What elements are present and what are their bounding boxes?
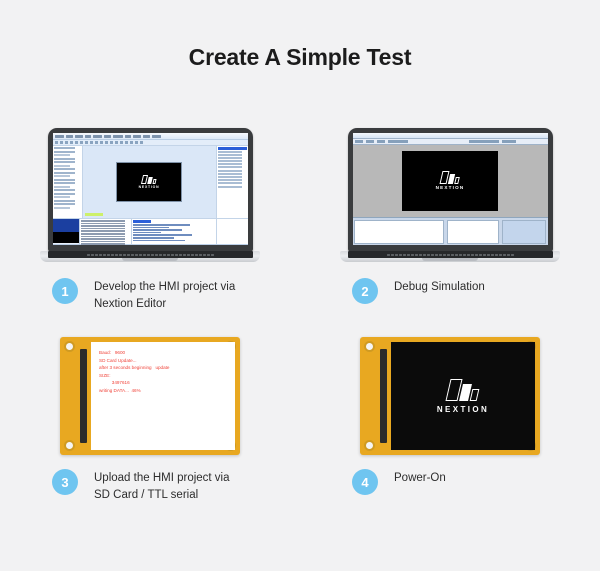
logo-bar-small xyxy=(470,389,480,401)
mounting-hole xyxy=(364,440,375,451)
ribbon-connector xyxy=(80,349,87,443)
step-text-1-line1: Develop the HMI project via xyxy=(94,279,235,296)
canvas-preview: NEXTION xyxy=(116,162,182,202)
step-text-4-line1: Power-On xyxy=(394,470,446,487)
step-text-4: Power-On xyxy=(394,470,446,487)
step-caption-2: 2 Debug Simulation xyxy=(300,262,600,304)
logo-bar-small xyxy=(152,179,156,184)
simulator-user-mcu-panel[interactable] xyxy=(502,220,546,244)
logo-bar-small xyxy=(454,177,460,184)
boot-log-line: after 3 seconds beginning update xyxy=(99,364,235,372)
step-text-1-line2: Nextion Editor xyxy=(94,296,235,313)
step-text-2: Debug Simulation xyxy=(394,279,485,296)
laptop-lid: NEXTION xyxy=(48,128,253,252)
steps-row-top: NEXTION xyxy=(0,128,600,313)
mounting-hole xyxy=(64,341,75,352)
laptop-debug-simulator: NEXTION xyxy=(340,128,560,262)
editor-toolbox xyxy=(216,219,248,244)
keyboard-keys xyxy=(387,254,514,256)
simulator-return-data[interactable] xyxy=(447,220,499,244)
logo-wordmark: NEXTION xyxy=(436,186,465,191)
boot-log-line: 3497616 xyxy=(99,379,235,387)
step-card-3: NX4024T032 Baud: 9600 SD Card Update... … xyxy=(0,337,300,504)
step-caption-3: 3 Upload the HMI project via SD Card / T… xyxy=(0,455,300,504)
editor-body: NEXTION xyxy=(53,146,248,218)
boot-log-line: writing DATA... 46% xyxy=(99,387,235,395)
step-text-3: Upload the HMI project via SD Card / TTL… xyxy=(94,470,230,504)
mounting-hole xyxy=(364,341,375,352)
step-text-3-line2: SD Card / TTL serial xyxy=(94,487,230,504)
lcd-screen: NEXTION xyxy=(391,342,535,450)
keyboard-keys xyxy=(87,254,214,256)
simulator-window: NEXTION xyxy=(353,133,548,245)
ribbon-connector xyxy=(380,349,387,443)
display-module-powered-on: NX4024T032 NEXTION xyxy=(360,337,540,455)
logo-bars xyxy=(441,171,459,184)
simulator-instruction-input[interactable] xyxy=(354,220,444,244)
laptop-keyboard xyxy=(348,251,553,258)
logo-bars xyxy=(448,379,478,401)
step-text-3-line1: Upload the HMI project via xyxy=(94,470,230,487)
logo-wordmark: NEXTION xyxy=(437,406,489,414)
step-text-1: Develop the HMI project via Nextion Edit… xyxy=(94,279,235,313)
simulator-io-panels xyxy=(353,217,548,245)
logo-bars xyxy=(142,175,156,184)
simulator-stage: NEXTION xyxy=(353,145,548,217)
step-caption-1: 1 Develop the HMI project via Nextion Ed… xyxy=(0,262,300,313)
step-card-2: NEXTION xyxy=(300,128,600,313)
lcd-screen: Baud: 9600 SD Card Update... after 3 sec… xyxy=(91,342,235,450)
step-card-4: NX4024T032 NEXTION 4 xyxy=(300,337,600,504)
laptop-screen: NEXTION xyxy=(353,133,548,245)
nextion-logo-icon: NEXTION xyxy=(437,379,489,414)
laptop-nextion-editor: NEXTION xyxy=(40,128,260,262)
editor-attribute-panel xyxy=(216,146,248,218)
laptop-keyboard xyxy=(48,251,253,258)
nextion-logo-icon: NEXTION xyxy=(436,171,465,191)
logo-wordmark: NEXTION xyxy=(139,186,160,189)
editor-menubar xyxy=(53,133,248,140)
display-module-uploading: NX4024T032 Baud: 9600 SD Card Update... … xyxy=(60,337,240,455)
step-card-1: NEXTION xyxy=(0,128,300,313)
step-badge-1: 1 xyxy=(52,278,78,304)
editor-bottom-panels xyxy=(53,218,248,244)
laptop-base xyxy=(40,251,260,262)
simulator-device-screen: NEXTION xyxy=(402,151,498,211)
pcb-board: NX4024T032 NEXTION xyxy=(360,337,540,455)
pcb-board: NX4024T032 Baud: 9600 SD Card Update... … xyxy=(60,337,240,455)
step-caption-4: 4 Power-On xyxy=(300,455,600,495)
steps-grid: NEXTION xyxy=(0,128,600,504)
boot-log: Baud: 9600 SD Card Update... after 3 sec… xyxy=(91,342,235,395)
boot-log-line: SIZE: xyxy=(99,372,235,380)
page-title: Create A Simple Test xyxy=(0,0,600,71)
nextion-editor-window: NEXTION xyxy=(53,133,248,245)
editor-status-tag xyxy=(85,213,103,216)
step-badge-4: 4 xyxy=(352,469,378,495)
step-text-2-line1: Debug Simulation xyxy=(394,279,485,296)
boot-log-line: Baud: 9600 xyxy=(99,349,235,357)
boot-log-line: SD Card Update... xyxy=(99,357,235,365)
nextion-logo-icon: NEXTION xyxy=(139,175,160,189)
mounting-hole xyxy=(64,440,75,451)
steps-row-bottom: NX4024T032 Baud: 9600 SD Card Update... … xyxy=(0,337,600,504)
laptop-screen: NEXTION xyxy=(53,133,248,245)
editor-output-list xyxy=(79,219,131,244)
step-badge-2: 2 xyxy=(352,278,378,304)
editor-event-code[interactable] xyxy=(131,219,216,244)
laptop-base xyxy=(340,251,560,262)
editor-resource-thumbs xyxy=(53,219,79,244)
editor-component-tree xyxy=(53,146,83,218)
laptop-lid: NEXTION xyxy=(348,128,553,252)
step-badge-3: 3 xyxy=(52,469,78,495)
editor-canvas[interactable]: NEXTION xyxy=(83,146,216,218)
